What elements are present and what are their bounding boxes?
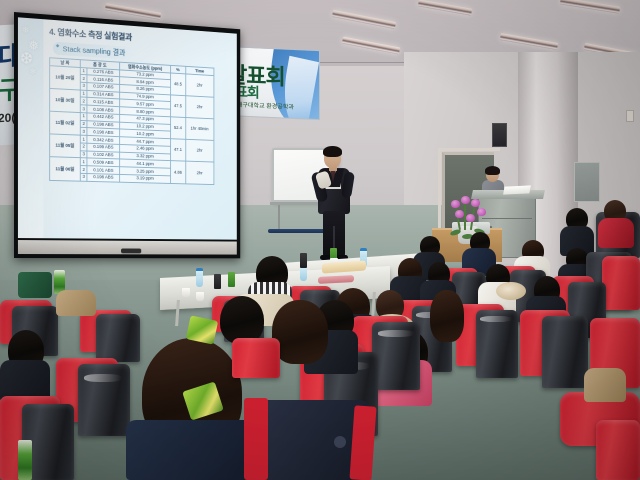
soft-drink-bottle (18, 440, 32, 480)
canned-drink (300, 253, 307, 268)
lecture-hall-photo: 대 구 20(금) 발표회 표회 대구대학교 환경공학과 ❄ ❅ ❆ ❄ 4. … (0, 0, 640, 480)
presenter-hair (323, 146, 342, 157)
orchid-bloom (471, 199, 480, 207)
audience-head-long-hair (272, 300, 328, 364)
podium-person-hair (485, 166, 500, 175)
wall-speaker-icon (492, 123, 507, 147)
lectern-papers (503, 185, 531, 194)
whiteboard-leg (278, 205, 280, 231)
cell-index: 3 (80, 173, 87, 181)
snowflake-icon: ❄ (30, 68, 37, 76)
canned-drink (228, 272, 235, 287)
slide-bullet: Stack sampling 결과 (53, 42, 133, 60)
cell-time: 2hr (185, 73, 214, 97)
screen-surface: ❄ ❅ ❆ ❄ 4. 염화수소 측정 실험결과 Stack sampling 결… (18, 17, 237, 239)
cell-date: 10월 30일 (50, 88, 80, 112)
cell-percent: 47.1 (171, 139, 186, 162)
slide-decoration-strip: ❄ ❅ ❆ ❄ (18, 17, 43, 238)
cell-time: 2hr (185, 139, 214, 162)
cell-absorbance: 0.198 ABS (87, 173, 119, 181)
cell-concentration: 3.19 ppm (119, 174, 170, 183)
seat-highlight (480, 316, 512, 322)
slide-data-table: 날 짜 흡 광 도 염화수소농도 (ppm) % Time 10월 29일10.… (49, 57, 214, 184)
orchid-bloom (466, 214, 475, 222)
seat-back[interactable] (96, 314, 140, 362)
cell-percent: 47.5 (171, 95, 186, 118)
seat-cushion[interactable] (232, 338, 280, 378)
cell-date: 11월 02일 (50, 111, 80, 135)
cell-date: 11월 06일 (50, 157, 80, 181)
cell-date: 11월 05일 (50, 134, 80, 158)
audience-body (56, 290, 96, 316)
seat-cushion[interactable] (602, 256, 640, 310)
audience-head-long-hair (430, 290, 464, 342)
wall-fixture-icon (626, 110, 634, 122)
canned-drink (214, 274, 221, 289)
banner-right-org: 대구대학교 환경공학과 (237, 100, 294, 111)
cell-percent: 48.5 (171, 73, 186, 96)
projection-screen: ❄ ❅ ❆ ❄ 4. 염화수소 측정 실험결과 Stack sampling 결… (14, 12, 240, 258)
orchid-bloom (461, 196, 470, 204)
backpack-button-icon (334, 436, 346, 448)
cell-index: 2 (80, 166, 87, 174)
cell-date: 10월 29일 (50, 65, 80, 90)
cell-percent: 52.4 (171, 117, 186, 140)
fur-hood (496, 282, 526, 300)
green-seat-panel (18, 272, 52, 298)
audience-body (126, 420, 256, 480)
cell-time: 2hr (185, 161, 214, 184)
cell-time: 1hr 40min (185, 117, 214, 140)
snowflake-icon: ❆ (20, 51, 33, 68)
presenter (312, 148, 358, 262)
screen-pull-handle[interactable] (121, 248, 141, 253)
seat-highlight (84, 374, 122, 382)
seat-highlight (378, 330, 414, 337)
audience-body (598, 218, 634, 248)
orchid-bloom (455, 210, 464, 218)
orchid-bloom (477, 208, 486, 216)
backpack-strap (244, 398, 268, 480)
cell-percent: 4.86 (171, 161, 186, 183)
snowflake-icon: ❄ (22, 26, 29, 35)
water-bottle (196, 268, 203, 287)
audience-body (584, 368, 626, 402)
wall-control-panel (574, 162, 600, 202)
paper-cup (196, 292, 204, 301)
seat-back[interactable] (542, 316, 588, 388)
orchid-bloom (451, 200, 460, 208)
paper-cup (182, 288, 190, 297)
seat-cushion[interactable] (596, 420, 640, 480)
cell-time: 2hr (185, 95, 214, 118)
slide-title: 4. 염화수소 측정 실험결과 (49, 26, 132, 44)
audience-head (220, 296, 264, 344)
slide-content: ❄ ❅ ❆ ❄ 4. 염화수소 측정 실험결과 Stack sampling 결… (18, 17, 237, 239)
